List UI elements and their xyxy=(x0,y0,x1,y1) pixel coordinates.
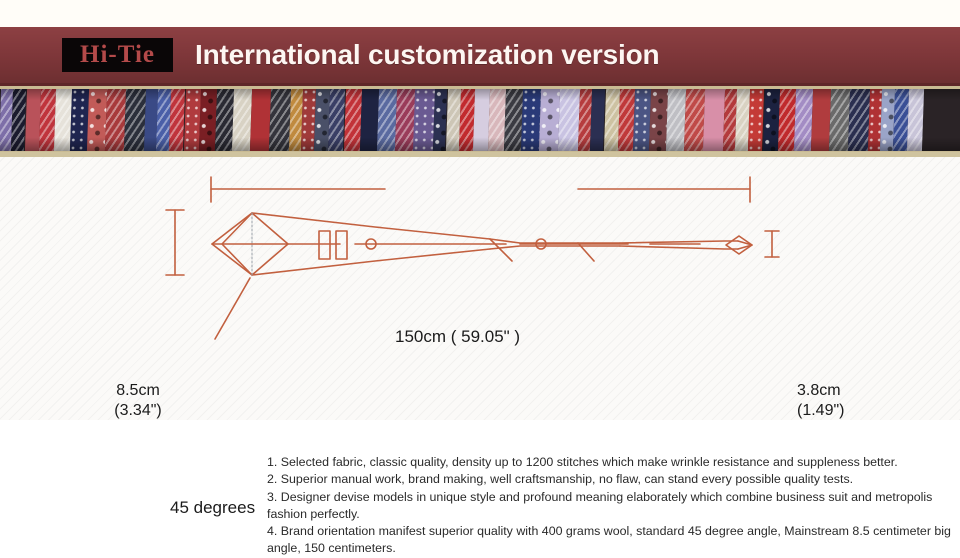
photo-strip-frame xyxy=(0,83,960,157)
necktie-swatch xyxy=(344,89,362,151)
narrow-end-dimension-label: 3.8cm (1.49") xyxy=(797,381,917,421)
product-spec-list: 1. Selected fabric, classic quality, den… xyxy=(267,454,957,558)
necktie-swatch xyxy=(232,89,252,151)
spec-item: 1. Selected fabric, classic quality, den… xyxy=(267,454,957,471)
keeper-loop-1 xyxy=(319,231,330,259)
spec-item: 3. Designer devise models in unique styl… xyxy=(267,489,957,524)
necktie-swatch xyxy=(907,89,924,151)
top-margin xyxy=(0,0,960,27)
necktie-swatch xyxy=(666,89,686,151)
angle-leader-line xyxy=(215,278,250,339)
wide-end-inch: (3.34") xyxy=(92,401,184,421)
necktie-swatch xyxy=(413,89,435,151)
necktie-photo-strip xyxy=(0,89,960,151)
narrow-end-diamond xyxy=(726,236,752,254)
narrow-end-inch: (1.49") xyxy=(797,401,917,421)
necktie-swatch xyxy=(215,89,234,151)
necktie-swatch xyxy=(360,89,379,151)
necktie-swatch xyxy=(829,89,850,151)
necktie-swatch xyxy=(811,89,831,151)
necktie-swatch xyxy=(328,89,345,151)
narrow-end-dimension-line xyxy=(765,231,779,257)
header-band: Hi-Tie International customization versi… xyxy=(0,27,960,83)
wide-end-dimension-line xyxy=(166,210,184,275)
necktie-swatch xyxy=(377,89,397,151)
necktie-swatch xyxy=(124,89,146,151)
brand-plate: Hi-Tie xyxy=(62,38,173,72)
spec-item: 4. Brand orientation manifest superior q… xyxy=(267,523,957,558)
wide-end-dimension-label: 8.5cm (3.34") xyxy=(92,381,184,421)
narrow-end-cm: 3.8cm xyxy=(797,381,917,401)
necktie-swatch xyxy=(848,89,870,151)
spec-item: 2. Superior manual work, brand making, w… xyxy=(267,471,957,488)
necktie-swatch xyxy=(269,89,291,151)
length-dimension-line xyxy=(211,177,750,202)
necktie-swatch xyxy=(87,89,107,151)
necktie-swatch xyxy=(558,89,580,151)
brand-logo-text: Hi-Tie xyxy=(80,42,155,67)
necktie-swatch xyxy=(684,89,705,151)
necktie-swatch xyxy=(250,89,271,151)
product-banner: Hi-Tie International customization versi… xyxy=(0,0,960,420)
necktie-swatch xyxy=(539,89,560,151)
keeper-loop-2 xyxy=(336,231,347,259)
wide-end-cm: 8.5cm xyxy=(92,381,184,401)
diagram-area: 150cm ( 59.05" ) 8.5cm (3.34") 3.8cm (1.… xyxy=(0,157,960,420)
header-title: International customization version xyxy=(195,39,659,71)
length-dimension-label: 150cm ( 59.05" ) xyxy=(395,327,520,347)
angle-label: 45 degrees xyxy=(170,498,255,518)
necktie-swatch xyxy=(105,89,126,151)
necktie-swatch xyxy=(703,89,725,151)
necktie-swatch xyxy=(794,89,813,151)
